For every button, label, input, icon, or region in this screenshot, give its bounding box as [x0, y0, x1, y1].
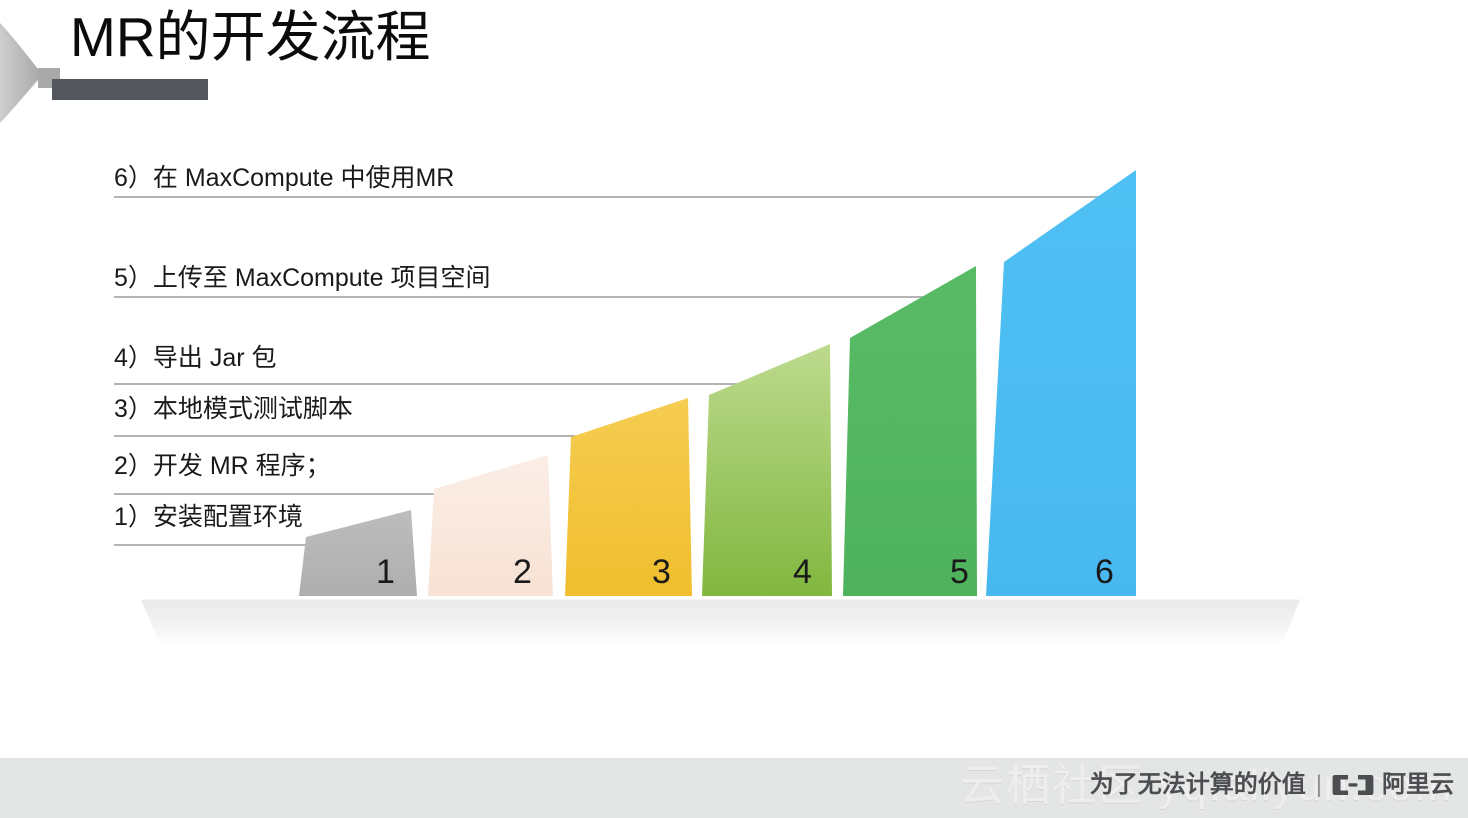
bar-number-1: 1 — [376, 555, 395, 589]
step-label-4: 4）导出 Jar 包 — [114, 343, 277, 373]
bar-number-2: 2 — [513, 555, 532, 589]
step-label-6: 6）在 MaxCompute 中使用MR — [114, 163, 454, 193]
step-label-2: 2）开发 MR 程序； — [114, 451, 331, 481]
bar-number-4: 4 — [793, 555, 812, 589]
alibaba-cloud-logo-icon — [1332, 772, 1374, 798]
step-label-3: 3）本地模式测试脚本 — [114, 394, 353, 424]
chart-base-platform — [141, 600, 1300, 643]
bar-5 — [843, 266, 977, 596]
bar-number-5: 5 — [950, 555, 969, 589]
bar-1 — [299, 510, 417, 596]
step-label-5: 5）上传至 MaxCompute 项目空间 — [114, 263, 490, 293]
step-label-1: 1）安装配置环境 — [114, 502, 303, 532]
footer-divider: | — [1314, 770, 1324, 800]
footer-brand-name: 阿里云 — [1382, 770, 1454, 800]
slide-canvas: MR的开发流程 — [0, 0, 1468, 818]
bar-3 — [565, 398, 692, 596]
bar-4 — [702, 344, 832, 596]
step-chart: 1）安装配置环境 2）开发 MR 程序； 3）本地模式测试脚本 4）导出 Jar… — [0, 0, 1468, 700]
bar-6 — [986, 170, 1136, 596]
footer-tagline: 为了无法计算的价值 — [1090, 770, 1306, 800]
bar-number-3: 3 — [652, 555, 671, 589]
bar-number-6: 6 — [1095, 555, 1114, 589]
bar-2 — [428, 455, 553, 596]
footer-brand-group: 为了无法计算的价值 | 阿里云 — [1090, 770, 1454, 800]
